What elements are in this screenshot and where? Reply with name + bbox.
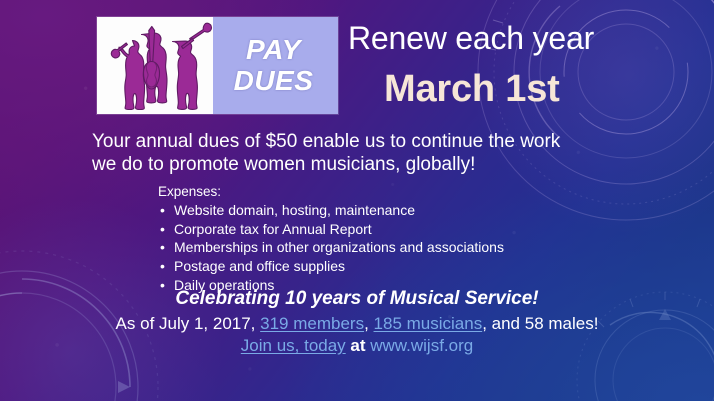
pay-dues-text: PAY DUES: [213, 17, 338, 114]
musicians-count-link[interactable]: 185 musicians: [374, 314, 483, 333]
list-item-label: Website domain, hosting, maintenance: [174, 202, 415, 218]
logo-line-dues: DUES: [234, 66, 314, 96]
bullet-icon: •: [160, 257, 165, 276]
stats-separator: ,: [364, 314, 373, 333]
bullet-icon: •: [160, 220, 165, 239]
membership-stats-line: As of July 1, 2017, 319 members, 185 mus…: [0, 314, 714, 334]
stats-prefix: As of July 1, 2017,: [116, 314, 261, 333]
three-women-musicians-silhouette-icon: [97, 17, 213, 114]
join-connector: at: [346, 336, 371, 355]
due-date-heading: March 1st: [384, 68, 560, 111]
website-link[interactable]: www.wijsf.org: [370, 336, 473, 355]
list-item-label: Corporate tax for Annual Report: [174, 221, 372, 237]
presentation-slide: PAY DUES Renew each year March 1st Your …: [0, 0, 714, 401]
join-line: Join us, today at www.wijsf.org: [0, 336, 714, 356]
celebrating-tagline: Celebrating 10 years of Musical Service!: [0, 288, 714, 310]
renew-heading: Renew each year: [348, 20, 594, 57]
expenses-list: • Website domain, hosting, maintenance •…: [158, 201, 504, 294]
list-item-label: Memberships in other organizations and a…: [174, 239, 504, 255]
stats-suffix: , and 58 males!: [482, 314, 598, 333]
bullet-icon: •: [160, 201, 165, 220]
bullet-icon: •: [160, 238, 165, 257]
members-count-link[interactable]: 319 members: [260, 314, 364, 333]
list-item: • Website domain, hosting, maintenance: [158, 201, 504, 220]
logo-line-pay: PAY: [246, 35, 301, 65]
expenses-block: Expenses: • Website domain, hosting, mai…: [158, 183, 504, 294]
pay-dues-logo: PAY DUES: [97, 17, 338, 114]
join-us-link[interactable]: Join us, today: [241, 336, 346, 355]
list-item-label: Postage and office supplies: [174, 258, 345, 274]
list-item: • Corporate tax for Annual Report: [158, 220, 504, 239]
list-item: • Memberships in other organizations and…: [158, 238, 504, 257]
dues-description: Your annual dues of $50 enable us to con…: [92, 130, 588, 176]
list-item: • Postage and office supplies: [158, 257, 504, 276]
expenses-title: Expenses:: [158, 183, 504, 200]
